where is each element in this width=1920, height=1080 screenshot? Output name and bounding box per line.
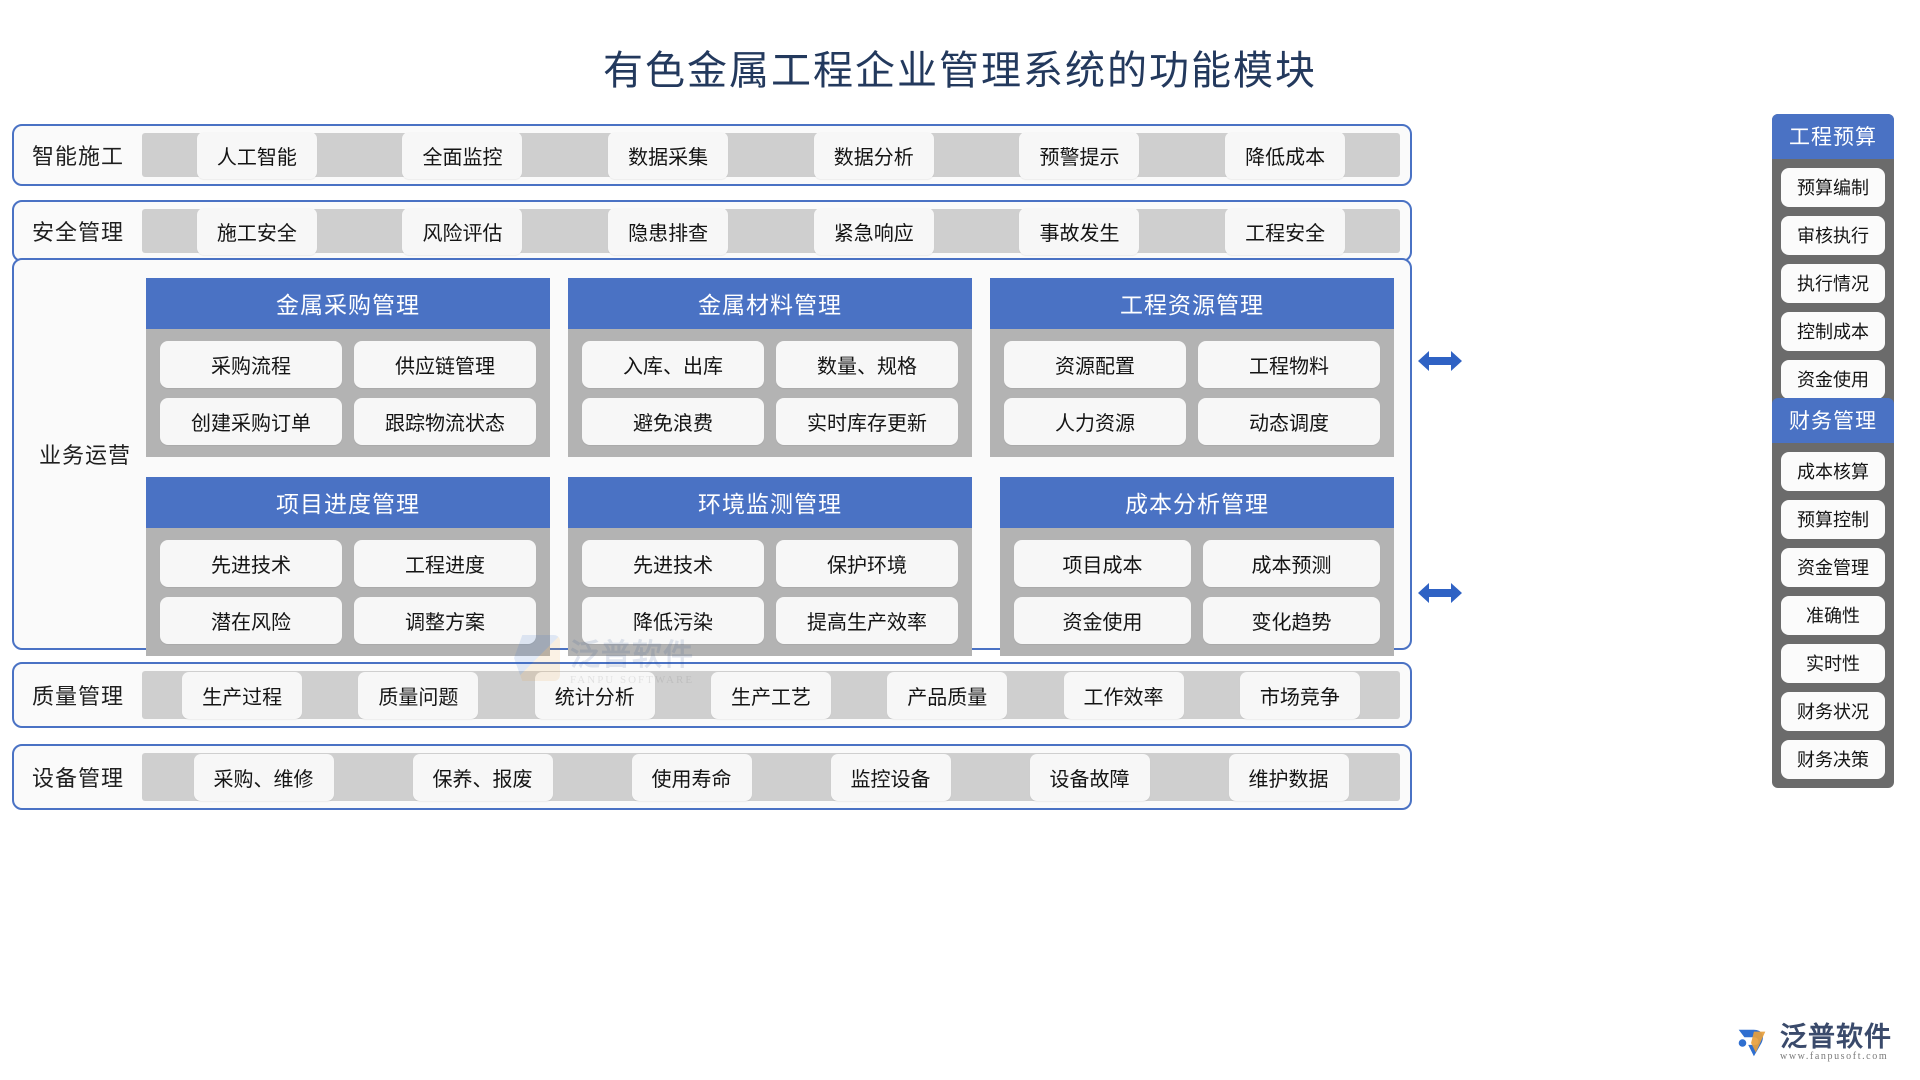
card-environment-monitoring: 环境监测管理 先进技术 保护环境 降低污染 提高生产效率 <box>568 477 972 656</box>
card3-item-0[interactable]: 先进技术 <box>160 540 342 587</box>
card-title-environment-monitoring: 环境监测管理 <box>568 477 972 528</box>
card2-item-3[interactable]: 动态调度 <box>1198 398 1380 445</box>
side-item-budget-1[interactable]: 审核执行 <box>1781 216 1885 255</box>
card1-item-2[interactable]: 避免浪费 <box>582 398 764 445</box>
row-quality-management: 质量管理 生产过程 质量问题 统计分析 生产工艺 产品质量 工作效率 市场竞争 <box>12 662 1412 728</box>
card1-item-0[interactable]: 入库、出库 <box>582 341 764 388</box>
section-business-operations: 业务运营 金属采购管理 采购流程 供应链管理 创建采购订单 跟踪物流状态 金属材… <box>12 258 1412 650</box>
row-strip-safety-management: 施工安全 风险评估 隐患排查 紧急响应 事故发生 工程安全 <box>142 209 1400 253</box>
pill-safety-5[interactable]: 工程安全 <box>1225 208 1345 255</box>
card-body-cost-analysis: 项目成本 成本预测 资金使用 变化趋势 <box>1000 528 1394 656</box>
pill-quality-1[interactable]: 质量问题 <box>358 672 478 719</box>
brand-url: www.fanpusoft.com <box>1780 1052 1892 1063</box>
card5-item-1[interactable]: 成本预测 <box>1203 540 1380 587</box>
pill-quality-6[interactable]: 市场竞争 <box>1240 672 1360 719</box>
row-strip-smart-construction: 人工智能 全面监控 数据采集 数据分析 预警提示 降低成本 <box>142 133 1400 177</box>
business-operations-grid: 金属采购管理 采购流程 供应链管理 创建采购订单 跟踪物流状态 金属材料管理 入… <box>146 278 1394 634</box>
card4-item-1[interactable]: 保护环境 <box>776 540 958 587</box>
pill-equipment-0[interactable]: 采购、维修 <box>194 754 334 801</box>
card-body-environment-monitoring: 先进技术 保护环境 降低污染 提高生产效率 <box>568 528 972 656</box>
card-title-metal-material: 金属材料管理 <box>568 278 972 329</box>
side-item-finance-6[interactable]: 财务决策 <box>1781 740 1885 779</box>
card-title-engineering-resource: 工程资源管理 <box>990 278 1394 329</box>
row-equipment-management: 设备管理 采购、维修 保养、报废 使用寿命 监控设备 设备故障 维护数据 <box>12 744 1412 810</box>
card-body-metal-material: 入库、出库 数量、规格 避免浪费 实时库存更新 <box>568 329 972 457</box>
card5-item-0[interactable]: 项目成本 <box>1014 540 1191 587</box>
card-metal-material: 金属材料管理 入库、出库 数量、规格 避免浪费 实时库存更新 <box>568 278 972 457</box>
pill-smart-1[interactable]: 全面监控 <box>402 132 522 179</box>
row-strip-quality-management: 生产过程 质量问题 统计分析 生产工艺 产品质量 工作效率 市场竞争 <box>142 671 1400 719</box>
fanpu-logo-icon <box>1733 1024 1771 1062</box>
pill-smart-0[interactable]: 人工智能 <box>197 132 317 179</box>
pill-quality-3[interactable]: 生产工艺 <box>711 672 831 719</box>
pill-quality-5[interactable]: 工作效率 <box>1064 672 1184 719</box>
side-item-finance-3[interactable]: 准确性 <box>1781 596 1885 635</box>
pill-safety-4[interactable]: 事故发生 <box>1019 208 1139 255</box>
side-panel-financial-management: 财务管理 成本核算 预算控制 资金管理 准确性 实时性 财务状况 财务决策 <box>1772 398 1894 788</box>
card-engineering-resource: 工程资源管理 资源配置 工程物料 人力资源 动态调度 <box>990 278 1394 457</box>
card3-item-1[interactable]: 工程进度 <box>354 540 536 587</box>
pill-quality-0[interactable]: 生产过程 <box>182 672 302 719</box>
card4-item-3[interactable]: 提高生产效率 <box>776 597 958 644</box>
pill-smart-5[interactable]: 降低成本 <box>1225 132 1345 179</box>
side-panel-engineering-budget: 工程预算 预算编制 审核执行 执行情况 控制成本 资金使用 <box>1772 114 1894 408</box>
pill-equipment-5[interactable]: 维护数据 <box>1229 754 1349 801</box>
side-item-finance-2[interactable]: 资金管理 <box>1781 548 1885 587</box>
card-metal-procurement: 金属采购管理 采购流程 供应链管理 创建采购订单 跟踪物流状态 <box>146 278 550 457</box>
side-item-budget-4[interactable]: 资金使用 <box>1781 360 1885 399</box>
card0-item-3[interactable]: 跟踪物流状态 <box>354 398 536 445</box>
row-safety-management: 安全管理 施工安全 风险评估 隐患排查 紧急响应 事故发生 工程安全 <box>12 200 1412 262</box>
card0-item-1[interactable]: 供应链管理 <box>354 341 536 388</box>
card-title-cost-analysis: 成本分析管理 <box>1000 477 1394 528</box>
pill-equipment-1[interactable]: 保养、报废 <box>413 754 553 801</box>
card3-item-2[interactable]: 潜在风险 <box>160 597 342 644</box>
card2-item-2[interactable]: 人力资源 <box>1004 398 1186 445</box>
row-label-quality-management: 质量管理 <box>14 679 142 711</box>
card-body-project-progress: 先进技术 工程进度 潜在风险 调整方案 <box>146 528 550 656</box>
card-body-engineering-resource: 资源配置 工程物料 人力资源 动态调度 <box>990 329 1394 457</box>
side-item-finance-1[interactable]: 预算控制 <box>1781 500 1885 539</box>
section-label-business-operations: 业务运营 <box>28 438 142 470</box>
card-body-metal-procurement: 采购流程 供应链管理 创建采购订单 跟踪物流状态 <box>146 329 550 457</box>
side-item-budget-2[interactable]: 执行情况 <box>1781 264 1885 303</box>
row-smart-construction: 智能施工 人工智能 全面监控 数据采集 数据分析 预警提示 降低成本 <box>12 124 1412 186</box>
card3-item-3[interactable]: 调整方案 <box>354 597 536 644</box>
card-project-progress: 项目进度管理 先进技术 工程进度 潜在风险 调整方案 <box>146 477 550 656</box>
side-item-finance-4[interactable]: 实时性 <box>1781 644 1885 683</box>
row-label-equipment-management: 设备管理 <box>14 761 142 793</box>
pill-safety-0[interactable]: 施工安全 <box>197 208 317 255</box>
side-item-finance-0[interactable]: 成本核算 <box>1781 452 1885 491</box>
pill-smart-2[interactable]: 数据采集 <box>608 132 728 179</box>
side-item-budget-3[interactable]: 控制成本 <box>1781 312 1885 351</box>
pill-quality-2[interactable]: 统计分析 <box>535 672 655 719</box>
double-arrow-icon-finance <box>1418 580 1462 606</box>
side-panel-title-financial-management: 财务管理 <box>1772 398 1894 443</box>
side-item-budget-0[interactable]: 预算编制 <box>1781 168 1885 207</box>
pill-equipment-4[interactable]: 设备故障 <box>1030 754 1150 801</box>
diagram-canvas: 有色金属工程企业管理系统的功能模块 泛普软件 FANPU SOFTWARE 智能… <box>0 0 1920 1080</box>
card2-item-1[interactable]: 工程物料 <box>1198 341 1380 388</box>
card-title-project-progress: 项目进度管理 <box>146 477 550 528</box>
pill-safety-3[interactable]: 紧急响应 <box>814 208 934 255</box>
pill-smart-4[interactable]: 预警提示 <box>1019 132 1139 179</box>
card5-item-3[interactable]: 变化趋势 <box>1203 597 1380 644</box>
side-item-finance-5[interactable]: 财务状况 <box>1781 692 1885 731</box>
pill-quality-4[interactable]: 产品质量 <box>887 672 1007 719</box>
card0-item-0[interactable]: 采购流程 <box>160 341 342 388</box>
card4-item-0[interactable]: 先进技术 <box>582 540 764 587</box>
card-title-metal-procurement: 金属采购管理 <box>146 278 550 329</box>
double-arrow-icon-budget <box>1418 348 1462 374</box>
pill-equipment-2[interactable]: 使用寿命 <box>632 754 752 801</box>
card2-item-0[interactable]: 资源配置 <box>1004 341 1186 388</box>
pill-equipment-3[interactable]: 监控设备 <box>831 754 951 801</box>
pill-safety-1[interactable]: 风险评估 <box>402 208 522 255</box>
row-label-safety-management: 安全管理 <box>14 215 142 247</box>
card1-item-3[interactable]: 实时库存更新 <box>776 398 958 445</box>
side-panel-title-engineering-budget: 工程预算 <box>1772 114 1894 159</box>
pill-safety-2[interactable]: 隐患排查 <box>608 208 728 255</box>
page-title: 有色金属工程企业管理系统的功能模块 <box>0 38 1920 96</box>
row-strip-equipment-management: 采购、维修 保养、报废 使用寿命 监控设备 设备故障 维护数据 <box>142 753 1400 801</box>
card1-item-1[interactable]: 数量、规格 <box>776 341 958 388</box>
card0-item-2[interactable]: 创建采购订单 <box>160 398 342 445</box>
card5-item-2[interactable]: 资金使用 <box>1014 597 1191 644</box>
pill-smart-3[interactable]: 数据分析 <box>814 132 934 179</box>
brand-logo: 泛普软件 www.fanpusoft.com <box>1733 1023 1892 1062</box>
card4-item-2[interactable]: 降低污染 <box>582 597 764 644</box>
brand-name: 泛普软件 <box>1780 1023 1892 1051</box>
row-label-smart-construction: 智能施工 <box>14 139 142 171</box>
card-cost-analysis: 成本分析管理 项目成本 成本预测 资金使用 变化趋势 <box>1000 477 1394 656</box>
